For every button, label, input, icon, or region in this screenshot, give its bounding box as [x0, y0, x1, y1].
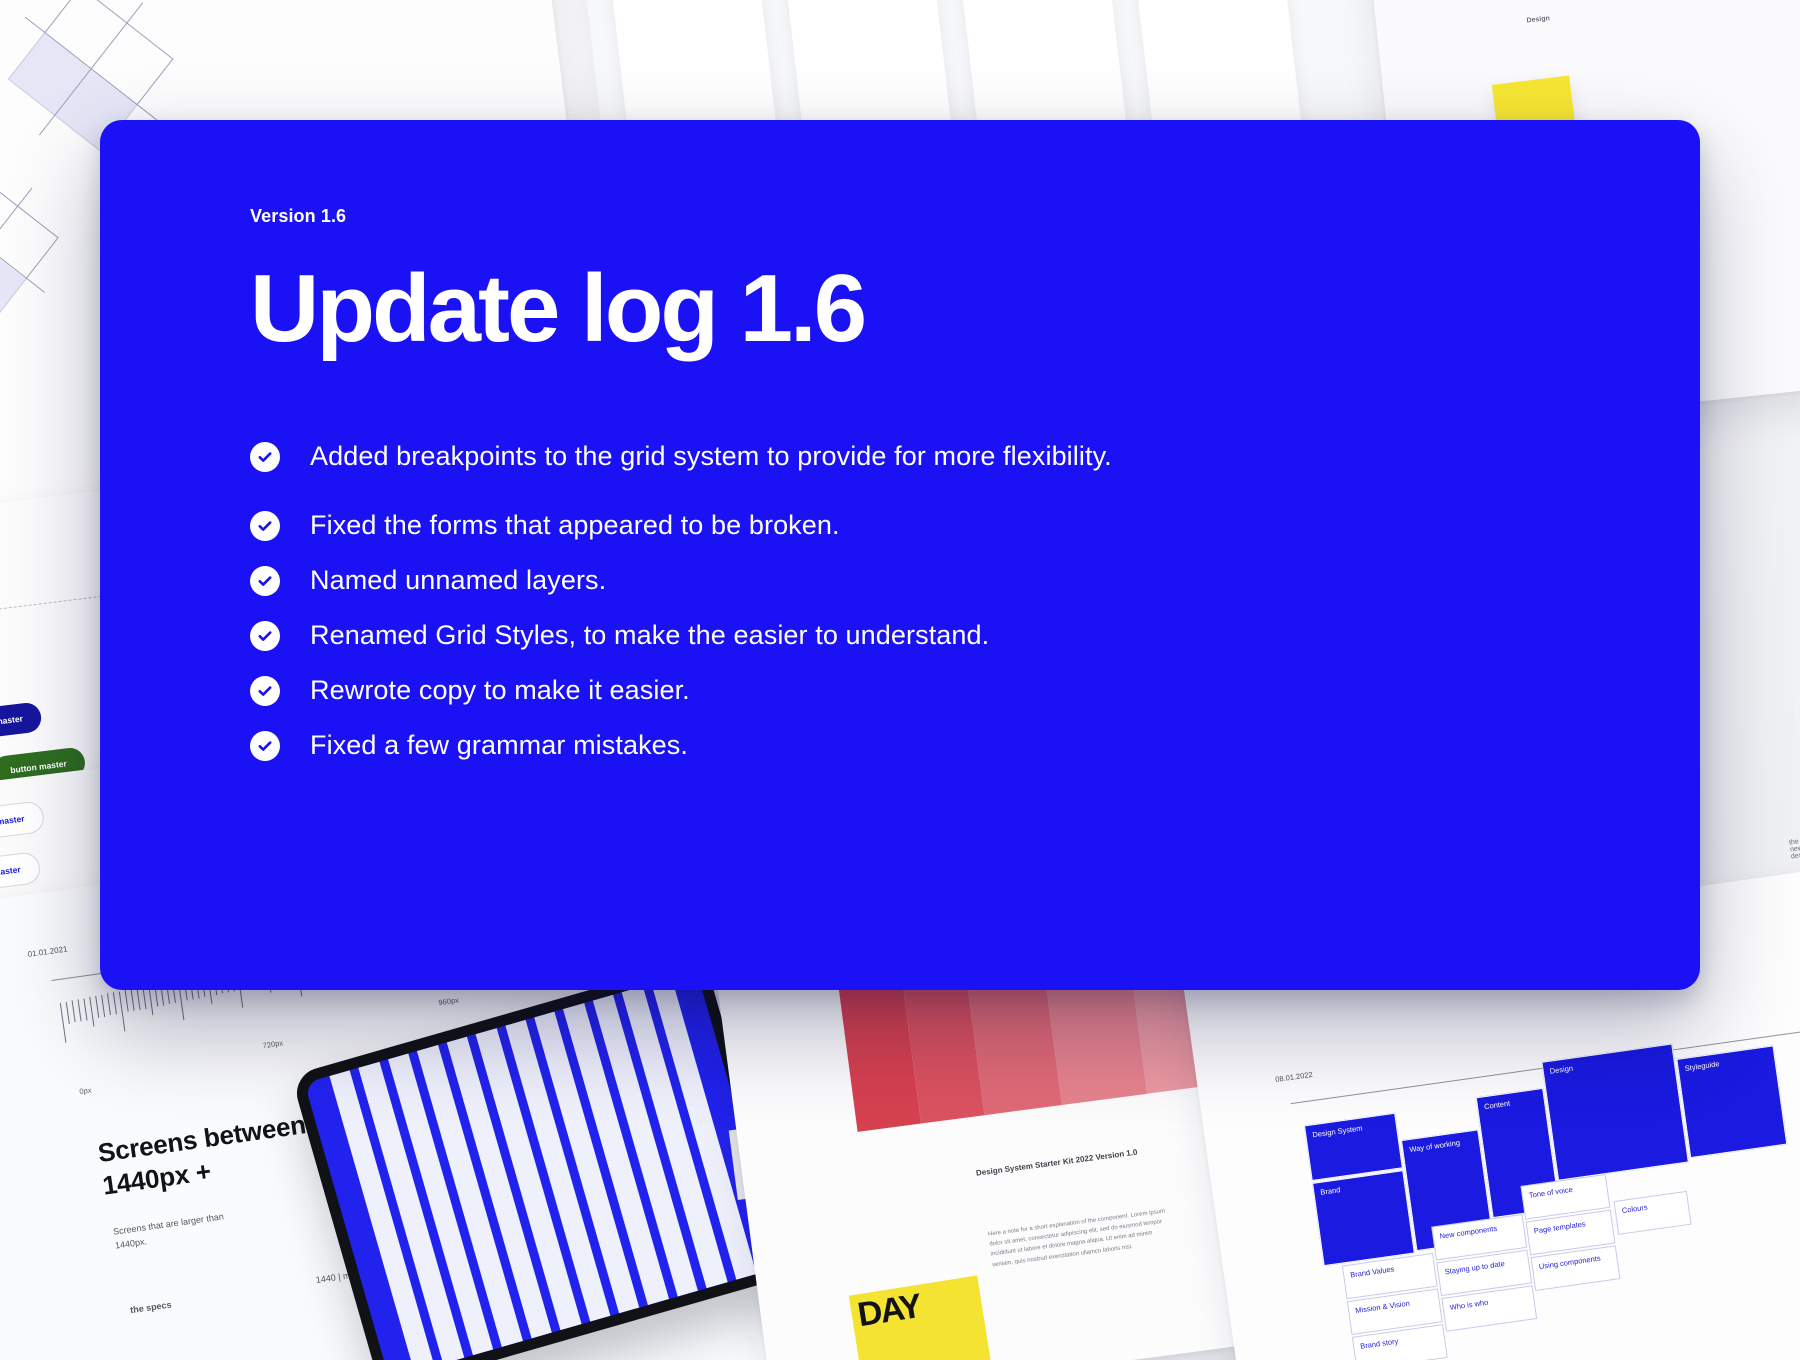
- button-master-label: button master: [0, 813, 25, 830]
- ruler-tick: [142, 987, 146, 1009]
- sitemap-node-label: New components: [1439, 1224, 1498, 1241]
- list-item: Fixed a few grammar mistakes.: [250, 730, 1628, 761]
- list-item-label: Named unnamed layers.: [310, 565, 606, 596]
- ruler-tick: [78, 999, 82, 1021]
- list-item-label: Fixed the forms that appeared to be brok…: [310, 510, 840, 541]
- design-note-label: the new design.: [1789, 837, 1800, 861]
- list-item-label: Rewrote copy to make it easier.: [310, 675, 690, 706]
- sitemap-node-label: Design: [1549, 1064, 1573, 1076]
- list-item-label: Renamed Grid Styles, to make the easier …: [310, 620, 989, 651]
- sitemap-node: Brand: [1312, 1170, 1415, 1266]
- check-circle-icon: [250, 621, 280, 651]
- breakpoint-tick-label: 720px: [262, 1038, 283, 1050]
- check-circle-icon: [250, 566, 280, 596]
- button-master-chip: button master: [0, 801, 44, 842]
- breakpoints-heading: Screens between 1440px +: [96, 1108, 312, 1202]
- ruler-tick: [83, 998, 87, 1020]
- list-item: Rewrote copy to make it easier.: [250, 675, 1628, 706]
- yellow-sticker-label: DAY: [855, 1287, 923, 1334]
- sitemap-node-label: Page templates: [1533, 1219, 1586, 1235]
- page-title: Update log 1.6: [250, 261, 1628, 357]
- button-master-label: button master: [0, 864, 21, 881]
- ruler-tick: [107, 994, 111, 1016]
- ruler-tick: [95, 996, 99, 1018]
- ruler-date: 01.01.2021: [27, 944, 68, 958]
- update-log-card: Version 1.6 Update log 1.6 Added breakpo…: [100, 120, 1700, 990]
- button-master-label: button master: [0, 713, 23, 730]
- sitemap-node: Styleguide: [1676, 1045, 1787, 1158]
- ruler-tick: [66, 1002, 70, 1024]
- check-circle-icon: [250, 511, 280, 541]
- breakpoints-subtext: Screens that are larger than 1440px.: [112, 1210, 226, 1252]
- list-item: Named unnamed layers.: [250, 565, 1628, 596]
- sitemap-node-label: Brand story: [1360, 1337, 1399, 1351]
- ruler-tick: [72, 1001, 76, 1023]
- sitemap-node-label: Styleguide: [1684, 1059, 1720, 1073]
- specs-label: the specs: [129, 1298, 172, 1317]
- changelog-list: Added breakpoints to the grid system to …: [250, 441, 1628, 761]
- ruler-tick: [119, 991, 126, 1031]
- sitemap-node-label: Tone of voice: [1528, 1185, 1573, 1200]
- wireframe-diamond: [0, 188, 44, 305]
- sitemap-node-label: Mission & Vision: [1355, 1299, 1411, 1316]
- ruler-tick: [113, 993, 117, 1015]
- ruler-tick: [60, 1003, 67, 1043]
- check-circle-icon: [250, 442, 280, 472]
- wireframe-diamond: [25, 3, 157, 135]
- design-tag-label: Design: [1526, 15, 1550, 24]
- sitemap-node: Design System: [1304, 1113, 1403, 1181]
- ruler-tick: [148, 986, 153, 1016]
- sitemap-node: Design: [1541, 1043, 1688, 1180]
- ruler-tick: [125, 990, 129, 1012]
- sitemap-node-label: Way of working: [1409, 1138, 1461, 1154]
- ruler-tick: [131, 989, 135, 1011]
- breakpoint-tick-label: 960px: [438, 996, 459, 1008]
- ruler-tick: [136, 988, 140, 1010]
- list-item: Added breakpoints to the grid system to …: [250, 441, 1628, 472]
- version-label: Version 1.6: [250, 206, 1628, 227]
- sitemap-date: 08.01.2022: [1275, 1070, 1313, 1084]
- sitemap-node-label: Design System: [1312, 1123, 1363, 1139]
- list-item: Fixed the forms that appeared to be brok…: [250, 510, 1628, 541]
- sitemap-node-label: Colours: [1621, 1203, 1648, 1216]
- check-circle-icon: [250, 731, 280, 761]
- sitemap-node-label: Staying up to date: [1444, 1259, 1505, 1276]
- sitemap-node-label: Brand Values: [1350, 1264, 1395, 1279]
- breakpoint-tick-label: 0px: [79, 1086, 92, 1097]
- document-body: Here a note for a short explanation of t…: [988, 1206, 1172, 1270]
- button-master-chip: button master: [0, 701, 43, 742]
- sitemap-node-label: Who is who: [1449, 1298, 1489, 1312]
- list-item: Renamed Grid Styles, to make the easier …: [250, 620, 1628, 651]
- sitemap-node-label: Content: [1484, 1099, 1511, 1112]
- sitemap-node: Colours: [1614, 1191, 1692, 1235]
- sitemap-node-label: Brand: [1320, 1185, 1341, 1197]
- check-circle-icon: [250, 676, 280, 706]
- sitemap-node-label: Using components: [1538, 1254, 1601, 1272]
- list-item-label: Fixed a few grammar mistakes.: [310, 730, 688, 761]
- ruler-tick: [89, 997, 94, 1027]
- document-caption: Design System Starter Kit 2022 Version 1…: [975, 1148, 1138, 1178]
- ruler-tick: [101, 995, 105, 1017]
- list-item-label: Added breakpoints to the grid system to …: [310, 441, 1112, 472]
- button-master-chip: button master: [0, 852, 40, 893]
